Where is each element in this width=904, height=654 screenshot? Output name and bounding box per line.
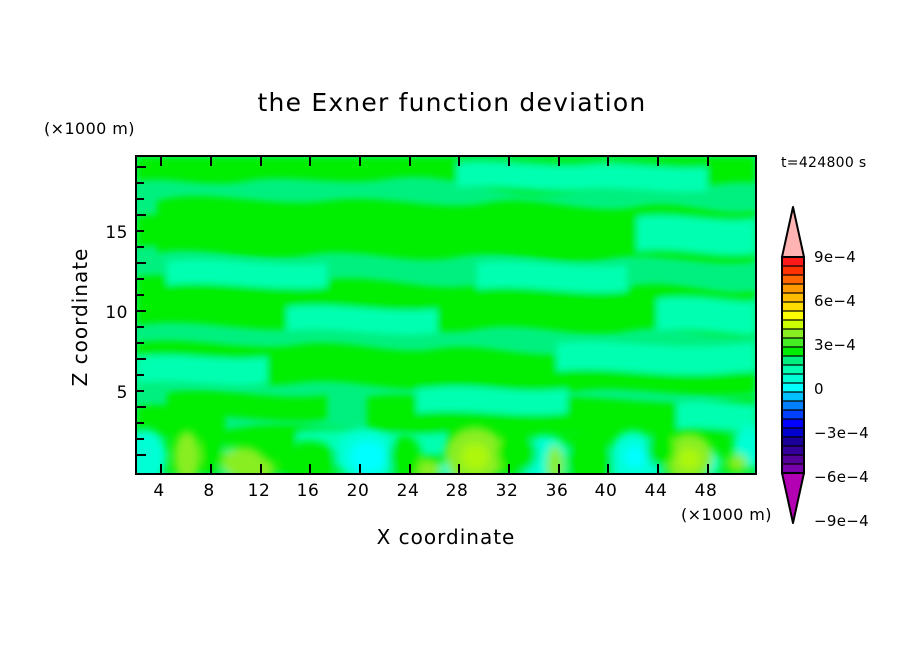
- colorbar-band: [782, 419, 804, 428]
- colorbar-band: [782, 392, 804, 401]
- colorbar-band: [782, 329, 804, 338]
- colorbar-band: [782, 428, 804, 437]
- colorbar-tick-label: 0: [814, 380, 824, 398]
- colorbar-band: [782, 455, 804, 464]
- x-tick-label: 48: [681, 481, 731, 501]
- colorbar-band: [782, 374, 804, 383]
- x-tick-label: 8: [184, 481, 234, 501]
- colorbar-band: [782, 275, 804, 284]
- colorbar-band: [782, 410, 804, 419]
- colorbar-tick-label: −6e−4: [814, 468, 869, 486]
- colorbar-band: [782, 311, 804, 320]
- colorbar-band: [782, 302, 804, 311]
- colorbar-band: [782, 356, 804, 365]
- colorbar-scale: [778, 205, 808, 525]
- timestamp-annotation: t=424800 s: [781, 155, 866, 171]
- colorbar: [778, 205, 808, 525]
- page-title: the Exner function deviation: [0, 88, 904, 117]
- x-tick-label: 32: [482, 481, 532, 501]
- colorbar-tick-label: −3e−4: [814, 424, 869, 442]
- colorbar-tick-label: 9e−4: [814, 248, 856, 266]
- x-axis-title: X coordinate: [135, 525, 757, 549]
- colorbar-band: [782, 365, 804, 374]
- colorbar-tick-label: 3e−4: [814, 336, 856, 354]
- colorbar-band: [782, 446, 804, 455]
- colorbar-tick-label: 6e−4: [814, 292, 856, 310]
- colorbar-band: [782, 257, 804, 266]
- y-tick-label: 10: [88, 303, 128, 323]
- y-tick-label: 15: [88, 223, 128, 243]
- y-tick-label: 5: [88, 383, 128, 403]
- x-tick-label: 36: [532, 481, 582, 501]
- x-tick-label: 28: [432, 481, 482, 501]
- x-tick-label: 40: [581, 481, 631, 501]
- x-tick-label: 24: [383, 481, 433, 501]
- colorbar-band: [782, 266, 804, 275]
- colorbar-band: [782, 338, 804, 347]
- x-axis-unit-label: (×1000 m): [681, 505, 772, 524]
- colorbar-band: [782, 347, 804, 356]
- x-tick-label: 16: [283, 481, 333, 501]
- contour-field: [137, 157, 755, 473]
- x-tick-label: 44: [631, 481, 681, 501]
- x-tick-label: 4: [134, 481, 184, 501]
- colorbar-band: [782, 320, 804, 329]
- colorbar-band: [782, 293, 804, 302]
- colorbar-band: [782, 464, 804, 473]
- colorbar-band: [782, 401, 804, 410]
- colorbar-band: [782, 437, 804, 446]
- x-tick-label: 12: [234, 481, 284, 501]
- y-axis-unit-label: (×1000 m): [44, 119, 135, 138]
- colorbar-band: [782, 284, 804, 293]
- figure-canvas: the Exner function deviation (×1000 m) (…: [0, 0, 904, 654]
- x-tick-label: 20: [333, 481, 383, 501]
- contour-plot-area: [135, 155, 757, 475]
- colorbar-band: [782, 383, 804, 392]
- colorbar-tick-label: −9e−4: [814, 512, 869, 530]
